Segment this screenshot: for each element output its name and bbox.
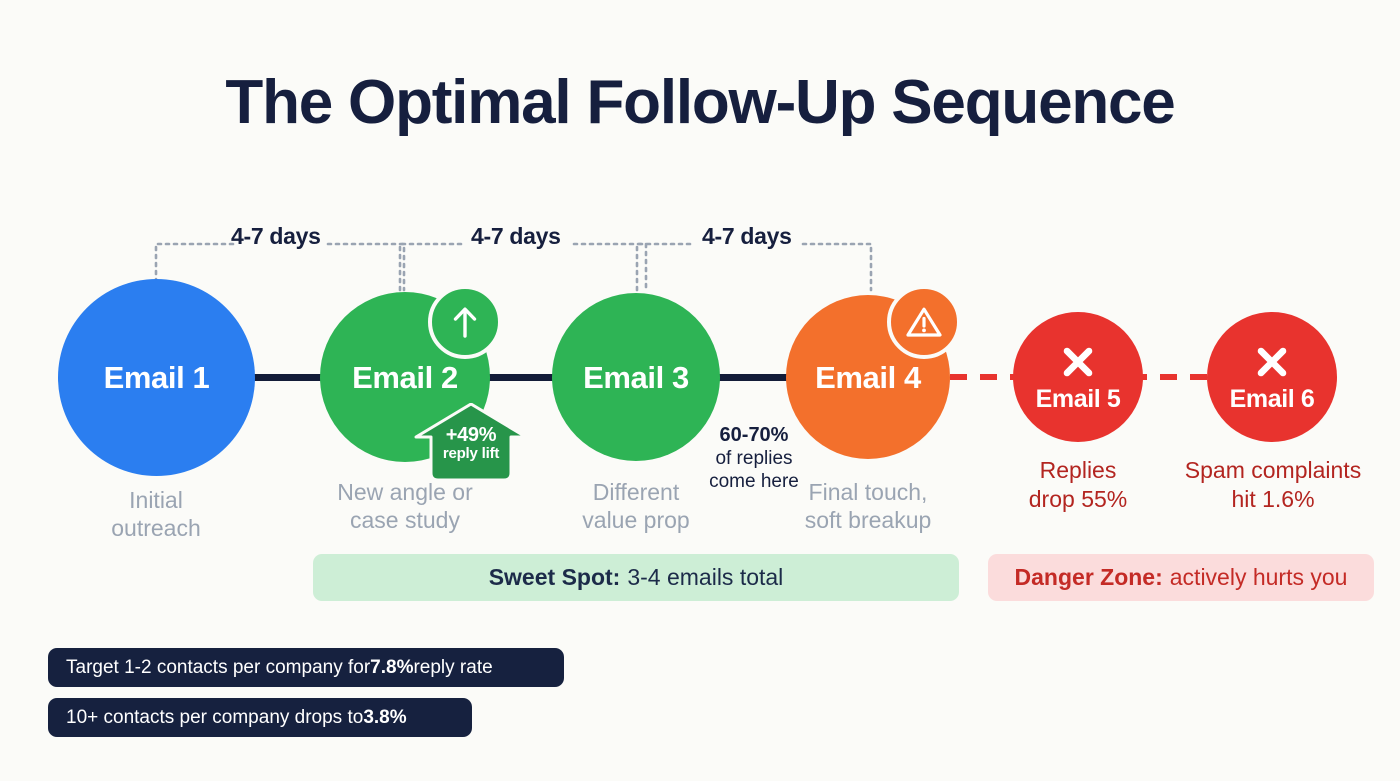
contacts-drop-pre: 10+ contacts per company drops to [66,707,363,729]
node-email-3-label: Email 3 [583,362,689,393]
contacts-target-pre: Target 1-2 contacts per company for [66,657,370,679]
node-email-5-caption: Replies drop 55% [978,456,1178,514]
contacts-drop-pill: 10+ contacts per company drops to 3.8% [48,698,472,737]
page-title: The Optimal Follow-Up Sequence [0,72,1400,134]
x-mark-icon [1253,343,1291,381]
sweet-spot-bar: Sweet Spot: 3-4 emails total [313,554,959,601]
danger-zone-label: Danger Zone: [1015,564,1163,591]
node-email-5[interactable]: Email 5 [1013,312,1143,442]
danger-zone-value: actively hurts you [1170,564,1348,591]
node-email-5-label: Email 5 [1036,387,1121,412]
node-email-1-label: Email 1 [104,362,210,393]
node-email-1[interactable]: Email 1 [58,279,255,476]
node-email-1-caption: Initial outreach [56,486,256,542]
node-email-4-label: Email 4 [815,362,921,393]
replies-share-note: 60-70% of replies come here [694,424,814,493]
node-email-2-label: Email 2 [352,362,458,393]
contacts-target-post: reply rate [413,657,492,679]
cadence-label-2: 4-7 days [471,223,561,250]
contacts-target-strong: 7.8% [370,657,413,679]
node-email-6[interactable]: Email 6 [1207,312,1337,442]
infographic-canvas: The Optimal Follow-Up Sequence 4-7 days … [0,0,1400,781]
sweet-spot-label: Sweet Spot: [489,564,621,591]
sweet-spot-value: 3-4 emails total [627,564,783,591]
node-email-6-label: Email 6 [1230,387,1315,412]
reply-lift-badge: +49% reply lift [413,403,529,481]
arrow-up-icon [428,285,502,359]
replies-share-line-2: come here [709,471,799,492]
node-email-2-caption: New angle or case study [305,478,505,534]
replies-share-line-1: of replies [715,448,792,469]
cadence-label-3: 4-7 days [702,223,792,250]
cadence-label-1: 4-7 days [231,223,321,250]
warning-triangle-icon [887,285,961,359]
contacts-drop-strong: 3.8% [363,707,406,729]
node-email-6-caption: Spam complaints hit 1.6% [1162,456,1384,514]
x-mark-icon [1059,343,1097,381]
contacts-target-pill: Target 1-2 contacts per company for 7.8%… [48,648,564,687]
danger-zone-bar: Danger Zone: actively hurts you [988,554,1374,601]
replies-share-headline: 60-70% [694,424,814,447]
